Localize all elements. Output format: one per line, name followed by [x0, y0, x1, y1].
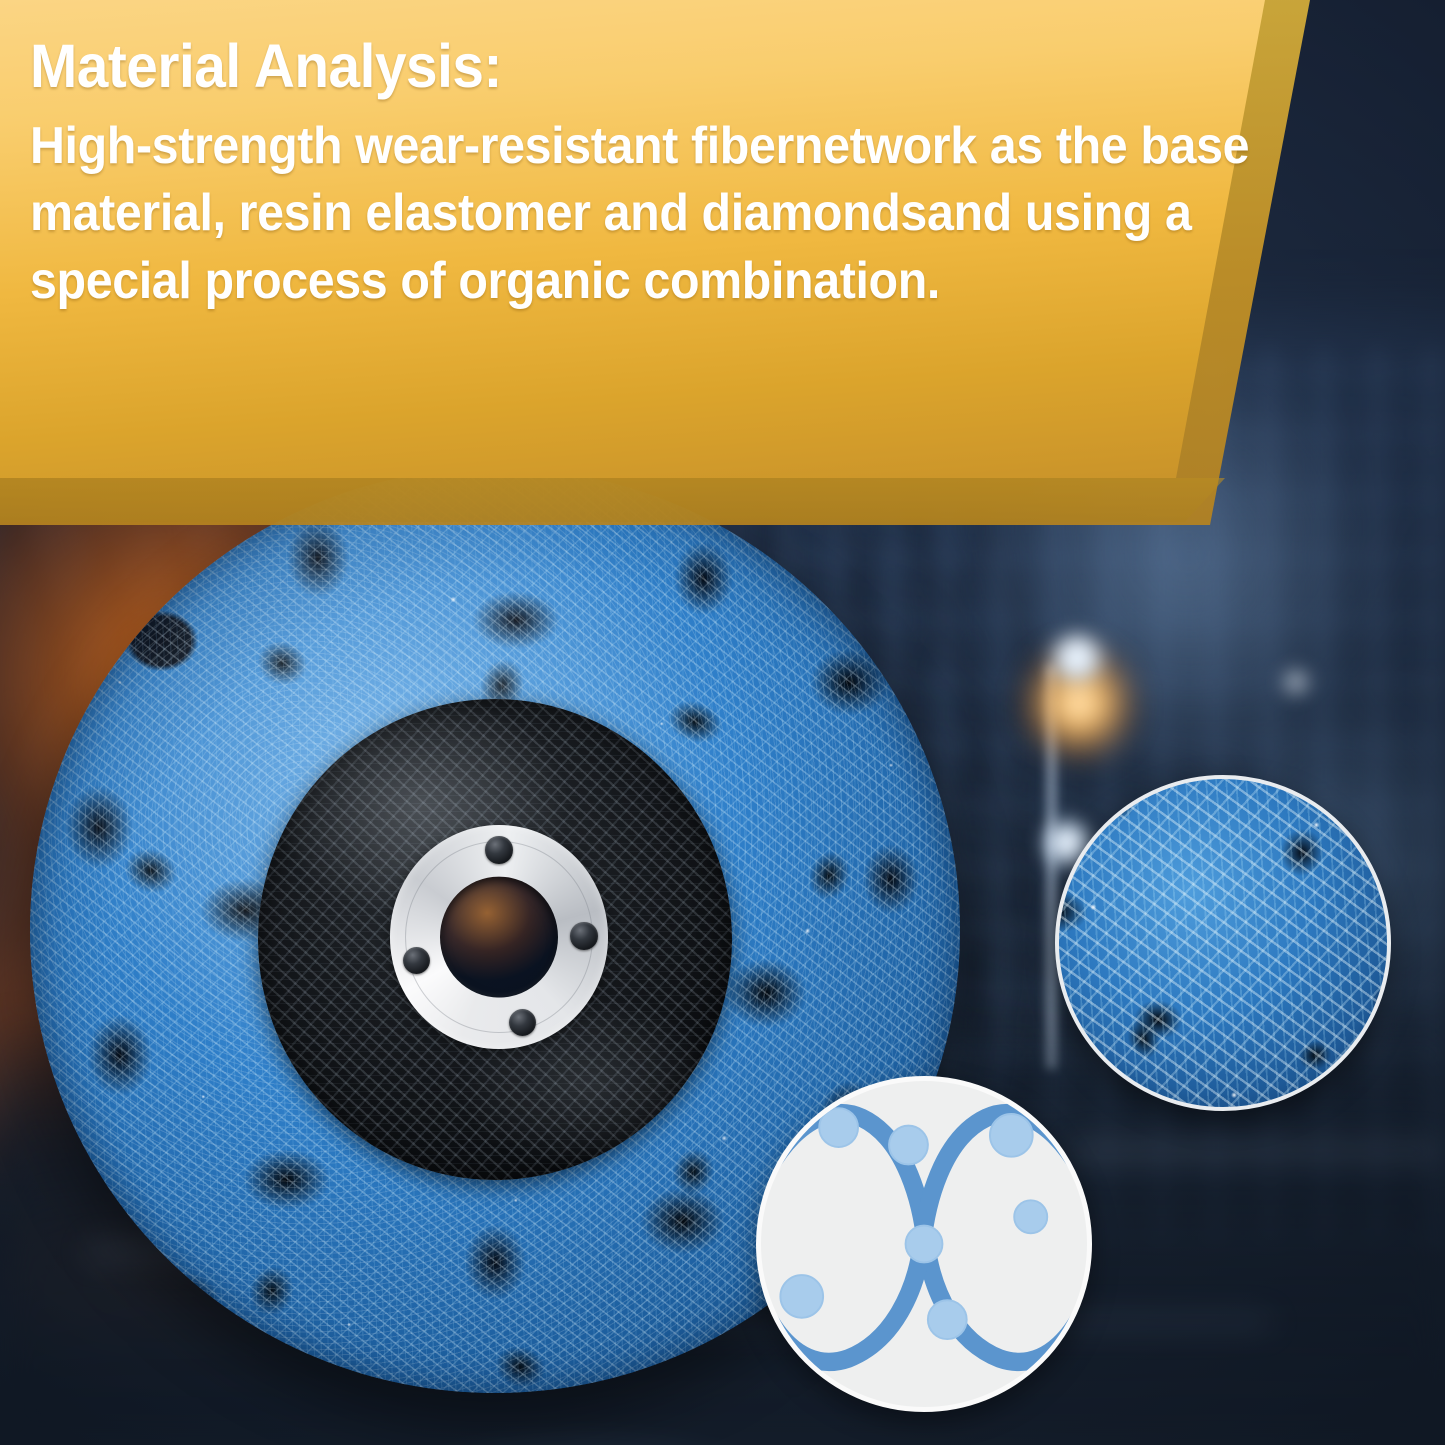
header-banner: Material Analysis: High-strength wear-re… — [0, 0, 1310, 525]
fiber-node — [990, 1114, 1033, 1157]
fiber-node — [928, 1300, 967, 1339]
fiber-node — [1014, 1200, 1047, 1233]
fiber-node — [906, 1226, 943, 1263]
banner-title: Material Analysis: — [30, 34, 1146, 99]
rivet — [509, 1009, 536, 1036]
rivet — [570, 922, 597, 949]
banner-text-block: Material Analysis: High-strength wear-re… — [30, 34, 1230, 315]
rivet — [485, 836, 512, 863]
steel-hub — [390, 825, 609, 1049]
fiber-node — [819, 1108, 858, 1147]
fiber-node — [889, 1126, 928, 1165]
fiber-node — [780, 1275, 823, 1318]
fiber-network-icon — [756, 1076, 1092, 1412]
macro-shading — [1059, 779, 1387, 1107]
texture-macro-callout — [1055, 775, 1391, 1111]
arbor-hole — [440, 877, 558, 998]
banner-body-text: High-strength wear-resistant fibernetwor… — [30, 113, 1267, 316]
product-marketing-image: Material Analysis: High-strength wear-re… — [0, 0, 1445, 1445]
